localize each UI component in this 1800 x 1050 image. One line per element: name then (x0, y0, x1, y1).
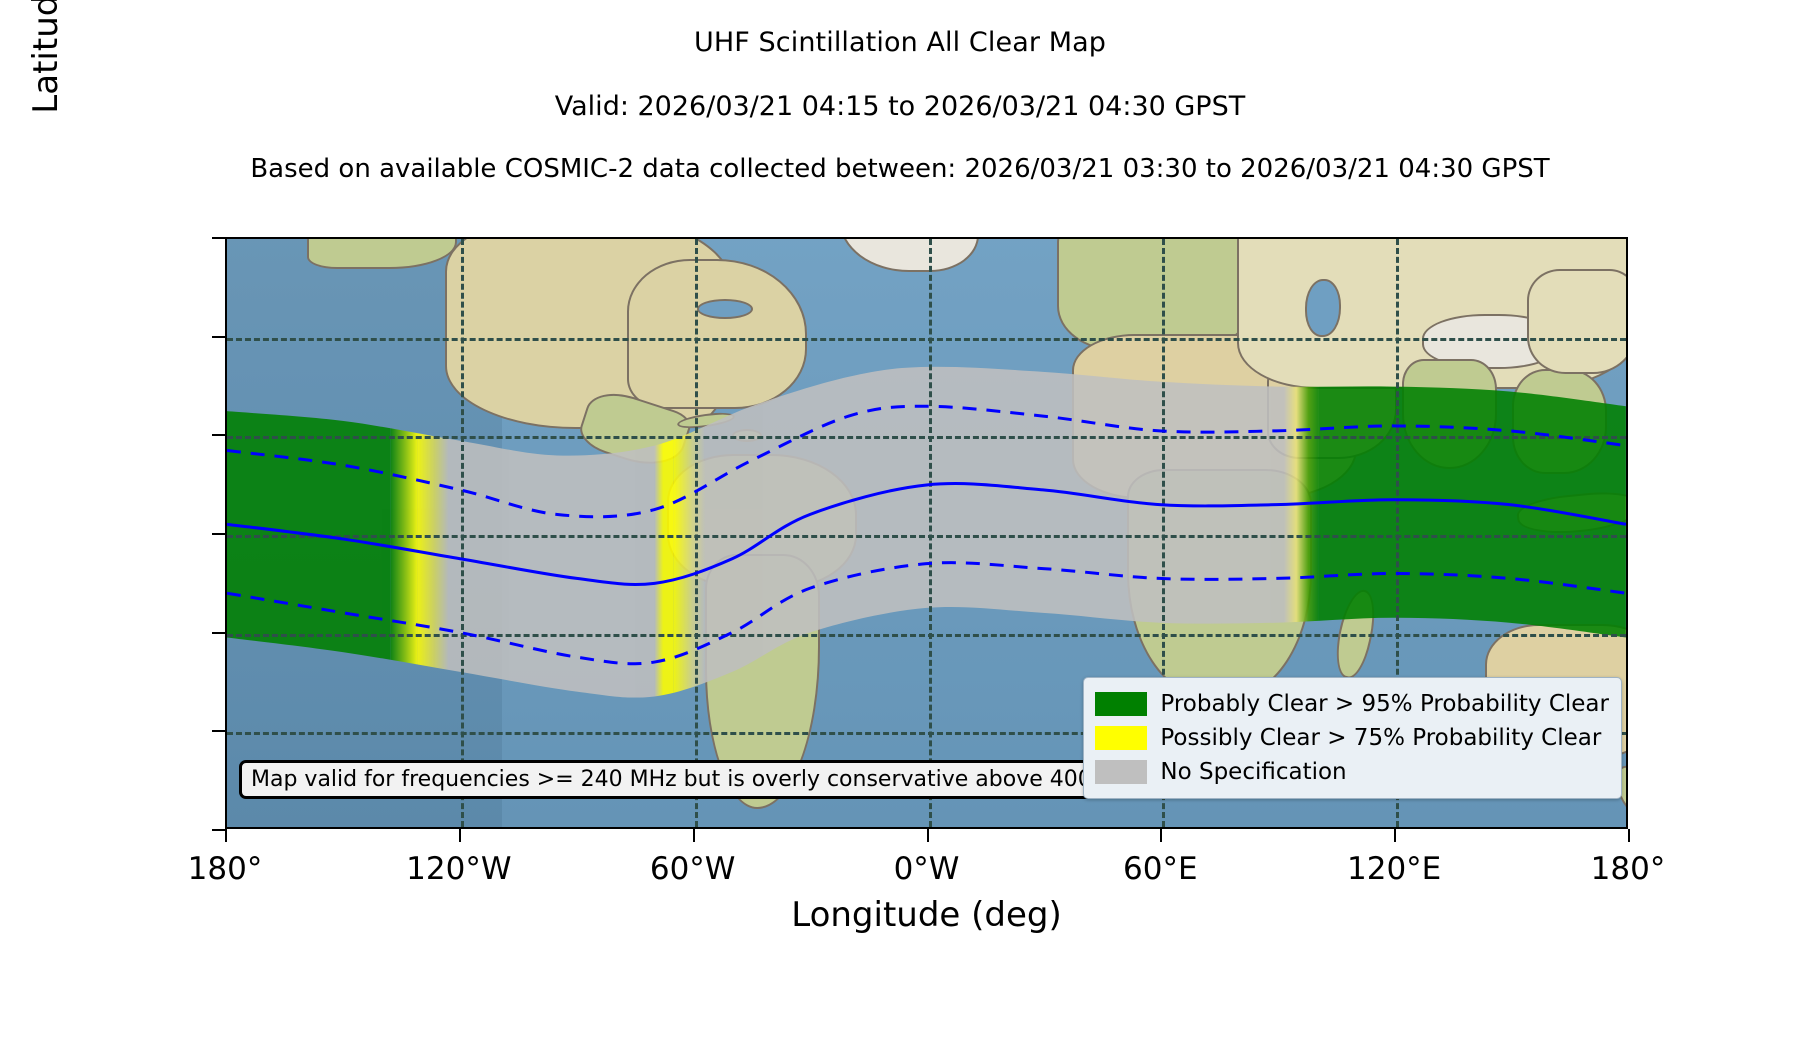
x-axis-tick (1394, 829, 1396, 842)
x-axis-tick (1628, 829, 1630, 842)
y-axis-tick (212, 237, 225, 239)
x-axis-tick-label: 60°E (1050, 851, 1270, 887)
x-axis-tick (1160, 829, 1162, 842)
x-axis-tick (459, 829, 461, 842)
axis-tick-layer: 60°N40°N20°N0°20°S40°S60°S180°120°W60°W0… (225, 237, 1628, 829)
y-axis-tick (212, 829, 225, 831)
page-title: UHF Scintillation All Clear Map (0, 27, 1800, 58)
y-axis-label: Latitude (deg) (18, 0, 74, 293)
x-axis-tick (927, 829, 929, 842)
valid-period-label: Valid: 2026/03/21 04:15 to 2026/03/21 04… (0, 91, 1800, 122)
x-axis-tick-label: 180° (115, 851, 335, 887)
x-axis-tick-label: 120°E (1284, 851, 1504, 887)
x-axis-tick-label: 180° (1518, 851, 1738, 887)
x-axis-tick-label: 0°W (817, 851, 1037, 887)
x-axis-tick (693, 829, 695, 842)
y-axis-tick (212, 730, 225, 732)
x-axis-tick-label: 60°W (583, 851, 803, 887)
y-axis-tick (212, 434, 225, 436)
data-source-label: Based on available COSMIC-2 data collect… (0, 154, 1800, 184)
x-axis-tick-label: 120°W (349, 851, 569, 887)
x-axis-label: Longitude (deg) (225, 895, 1628, 935)
title-block: UHF Scintillation All Clear Map Valid: 2… (0, 0, 1800, 184)
y-axis-tick (212, 336, 225, 338)
y-axis-tick (212, 632, 225, 634)
y-axis-tick (212, 533, 225, 535)
x-axis-tick (225, 829, 227, 842)
